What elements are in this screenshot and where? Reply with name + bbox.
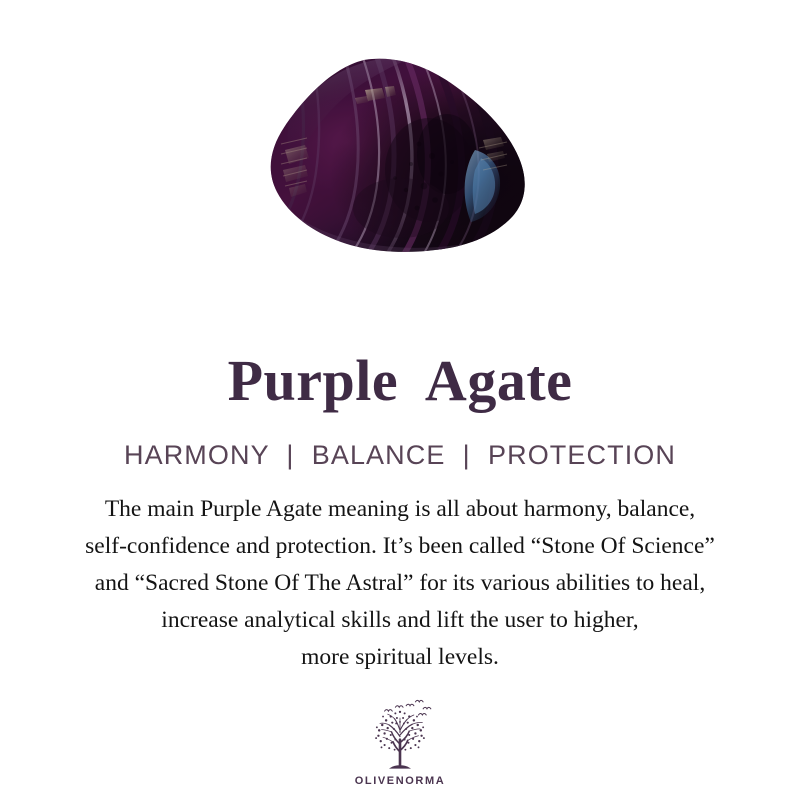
description-line: and “Sacred Stone Of The Astral” for its… [20,565,780,602]
description-paragraph: The main Purple Agate meaning is all abo… [20,471,780,676]
infographic-card: Purple Agate HARMONY | BALANCE | PROTECT… [0,0,800,800]
description-line: self-confidence and protection. It’s bee… [20,528,780,565]
description-line: increase analytical skills and lift the … [20,602,780,639]
brand-wordmark: OLIVENORMA [355,775,446,787]
tree-of-life-with-birds-icon [361,698,439,772]
description-line: more spiritual levels. [20,639,780,676]
hero-image-block [0,0,800,300]
brand-logo: OLIVENORMA [355,698,446,787]
keyword-tagline: HARMONY | BALANCE | PROTECTION [124,410,676,471]
agate-stone-graphic [269,58,531,258]
page-title: Purple Agate [228,300,573,410]
purple-agate-stone-image [269,58,531,258]
description-line: The main Purple Agate meaning is all abo… [20,491,780,528]
